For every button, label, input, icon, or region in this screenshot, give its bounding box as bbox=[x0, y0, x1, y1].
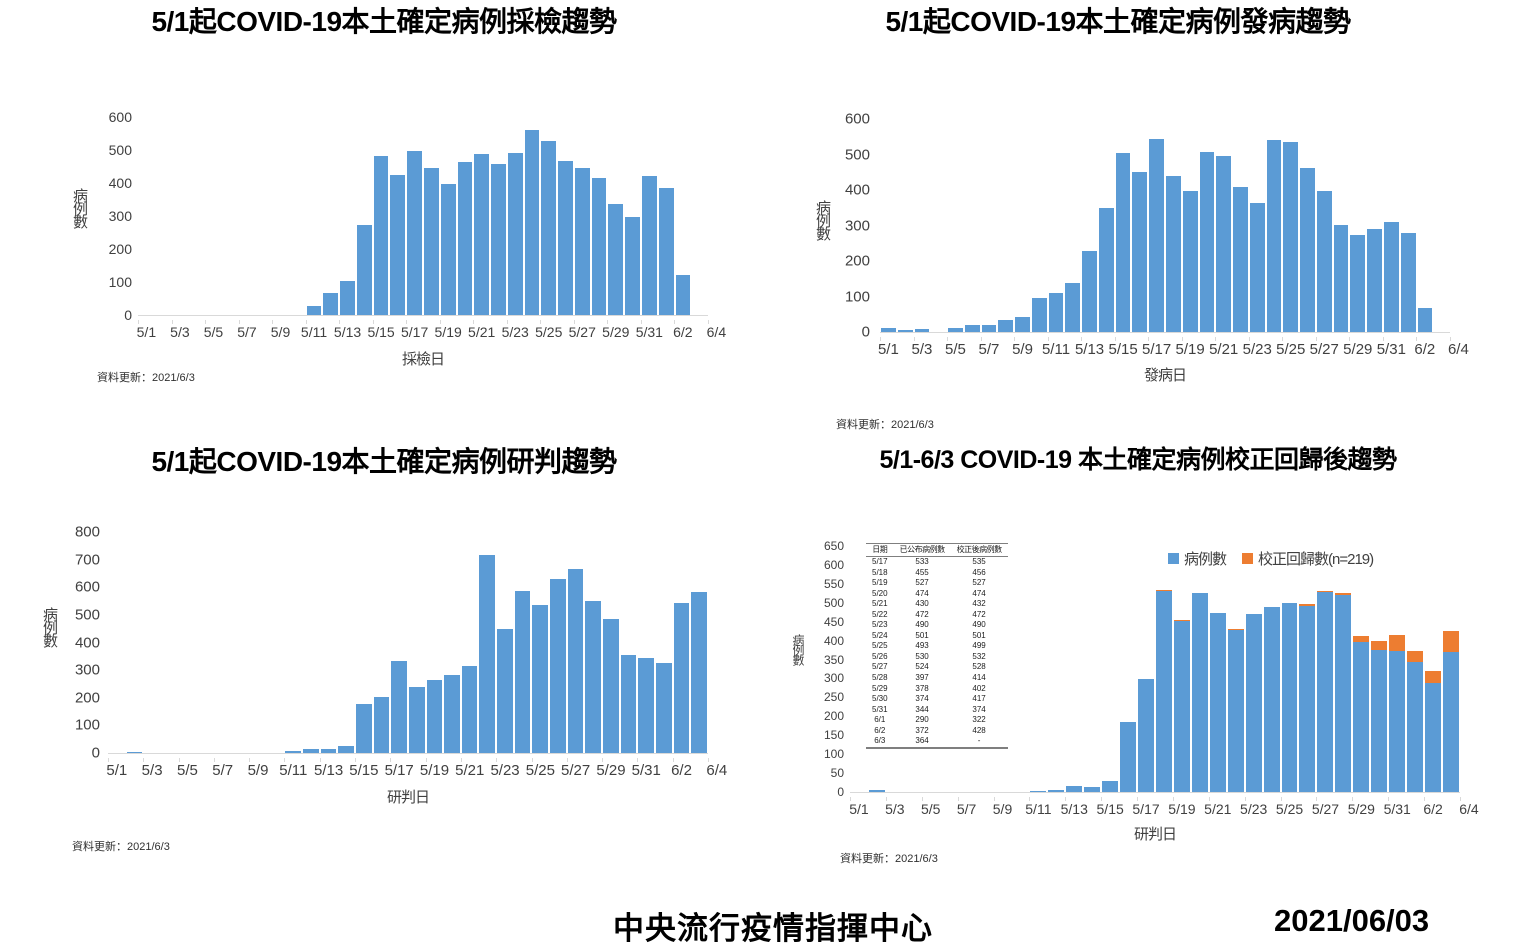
bar-group bbox=[1031, 120, 1048, 332]
x-tick-mark bbox=[958, 797, 959, 801]
x-tick-label: 6/4 bbox=[706, 762, 727, 779]
bar-group bbox=[478, 533, 496, 753]
bar-group bbox=[1352, 547, 1370, 792]
bar-group bbox=[1014, 120, 1031, 332]
x-tick-label: 5/5 bbox=[177, 762, 198, 779]
update-note-corrected: 資料更新：2021/6/3 bbox=[840, 850, 938, 866]
bar-group bbox=[1199, 120, 1216, 332]
bar-group bbox=[1417, 120, 1434, 332]
bar-group bbox=[591, 118, 608, 315]
x-tick-mark bbox=[390, 758, 391, 762]
bar-group bbox=[426, 533, 444, 753]
x-tick-label: 6/4 bbox=[707, 324, 726, 340]
x-tick-mark bbox=[1349, 337, 1350, 341]
bar-segment-cases bbox=[515, 591, 531, 753]
table-cell: 428 bbox=[951, 726, 1008, 737]
x-tick-mark bbox=[1460, 797, 1461, 801]
x-tick-mark bbox=[1173, 797, 1174, 801]
bar-segment-cases bbox=[1084, 787, 1100, 792]
x-tick-mark bbox=[1048, 337, 1049, 341]
x-tick-mark bbox=[1245, 797, 1246, 801]
bar-group bbox=[574, 118, 591, 315]
table-cell: 5/18 bbox=[866, 568, 894, 579]
x-tick-label: 5/7 bbox=[212, 762, 233, 779]
x-tick-label: 5/23 bbox=[1243, 341, 1272, 358]
bar-group bbox=[1148, 120, 1165, 332]
bar-segment-cases bbox=[508, 153, 523, 315]
y-tick-label: 600 bbox=[109, 109, 132, 125]
table-cell: 378 bbox=[894, 684, 951, 695]
x-tick-label: 5/3 bbox=[170, 324, 189, 340]
x-tick-label: 5/29 bbox=[602, 324, 629, 340]
table-cell: 322 bbox=[951, 715, 1008, 726]
table-row: 5/31344374 bbox=[866, 705, 1008, 716]
x-tick-label: 5/1 bbox=[849, 801, 868, 817]
x-tick-mark bbox=[1081, 337, 1082, 341]
bar-segment-cases bbox=[357, 225, 372, 315]
bar-group bbox=[531, 533, 549, 753]
bar-group bbox=[655, 533, 673, 753]
bar-group bbox=[880, 120, 897, 332]
bar-group bbox=[997, 120, 1014, 332]
x-tick-label: 5/15 bbox=[349, 762, 378, 779]
bar-group bbox=[1083, 547, 1101, 792]
bar-segment-cases bbox=[525, 130, 540, 316]
bar-segment-cases bbox=[1335, 595, 1351, 793]
x-tick-label: 5/7 bbox=[957, 801, 976, 817]
table-cell: 490 bbox=[894, 620, 951, 631]
y-tick-label: 500 bbox=[845, 146, 870, 163]
table-cell: 364 bbox=[894, 736, 951, 748]
bar-segment-cases bbox=[127, 752, 143, 753]
bar-group bbox=[1263, 547, 1281, 792]
y-tick-label: 600 bbox=[845, 111, 870, 128]
bar-segment-cases bbox=[1317, 191, 1332, 332]
x-tick-mark bbox=[1352, 797, 1353, 801]
x-tick-label: 5/23 bbox=[1240, 801, 1267, 817]
x-tick-label: 6/2 bbox=[671, 762, 692, 779]
xaxis-ticks-judgment: 5/15/35/55/75/95/115/135/155/175/195/215… bbox=[108, 758, 708, 780]
x-tick-label: 5/23 bbox=[490, 762, 519, 779]
bar-segment-cases bbox=[1228, 630, 1244, 792]
bar-group bbox=[126, 533, 144, 753]
table-cell: 5/23 bbox=[866, 620, 894, 631]
x-tick-mark bbox=[373, 320, 374, 324]
x-tick-label: 5/11 bbox=[1042, 341, 1070, 358]
bar-group bbox=[1281, 547, 1299, 792]
bar-segment-cases bbox=[1065, 283, 1080, 332]
bar-segment-cases bbox=[948, 328, 963, 332]
bar-group bbox=[1266, 120, 1283, 332]
x-tick-label: 5/25 bbox=[535, 324, 562, 340]
bar-group bbox=[1119, 547, 1137, 792]
bar-group bbox=[1388, 547, 1406, 792]
bar-group bbox=[457, 118, 474, 315]
y-tick-label: 600 bbox=[75, 579, 100, 596]
footer-organization: 中央流行疫情指揮中心 bbox=[613, 903, 933, 948]
bar-segment-cases bbox=[1264, 607, 1280, 792]
x-tick-label: 5/19 bbox=[420, 762, 449, 779]
bar-segment-correction bbox=[1407, 651, 1423, 662]
bar-segment-cases bbox=[497, 629, 513, 753]
bar-group bbox=[440, 118, 457, 315]
bar-segment-cases bbox=[1156, 591, 1172, 792]
bar-segment-cases bbox=[1149, 139, 1164, 332]
x-tick-label: 5/1 bbox=[106, 762, 127, 779]
table-cell: 472 bbox=[951, 610, 1008, 621]
bar-group bbox=[205, 118, 222, 315]
bar-group bbox=[1115, 120, 1132, 332]
bar-group bbox=[1433, 120, 1450, 332]
x-tick-label: 5/29 bbox=[1348, 801, 1375, 817]
x-tick-label: 5/29 bbox=[1343, 341, 1372, 358]
x-tick-label: 6/4 bbox=[1459, 801, 1478, 817]
y-tick-label: 150 bbox=[824, 728, 844, 742]
bar-group bbox=[930, 120, 947, 332]
bar-group bbox=[188, 118, 205, 315]
update-note-sampling: 資料更新：2021/6/3 bbox=[97, 369, 195, 385]
bar-group bbox=[1232, 120, 1249, 332]
bar-segment-cases bbox=[407, 151, 422, 315]
bar-segment-cases bbox=[1401, 233, 1416, 332]
x-tick-label: 5/9 bbox=[1012, 341, 1033, 358]
x-tick-mark bbox=[507, 320, 508, 324]
yaxis-ticks-sampling: 0100200300400500600 bbox=[96, 110, 132, 315]
bar-group bbox=[161, 533, 179, 753]
chart-title-corrected-trend: 5/1-6/3 COVID-19 本土確定病例校正回歸後趨勢 bbox=[768, 440, 1508, 476]
bar-segment-cases bbox=[340, 281, 355, 315]
bar-segment-cases bbox=[585, 601, 601, 753]
x-tick-label: 5/9 bbox=[993, 801, 1012, 817]
bar-segment-cases bbox=[674, 603, 690, 753]
x-tick-mark bbox=[674, 320, 675, 324]
table-row: 5/24501501 bbox=[866, 631, 1008, 642]
bar-segment-cases bbox=[1102, 781, 1118, 792]
table-row: 6/2372428 bbox=[866, 726, 1008, 737]
bar-segment-cases bbox=[638, 658, 654, 753]
x-tick-label: 5/21 bbox=[455, 762, 484, 779]
bar-group bbox=[673, 533, 691, 753]
x-tick-label: 6/2 bbox=[1414, 341, 1435, 358]
bar-segment-cases bbox=[1066, 786, 1082, 792]
bar-group bbox=[1383, 120, 1400, 332]
table-cell: 5/24 bbox=[866, 631, 894, 642]
update-note-judgment: 資料更新：2021/6/3 bbox=[72, 838, 170, 854]
bar-segment-cases bbox=[1389, 651, 1405, 792]
y-tick-label: 500 bbox=[75, 606, 100, 623]
bar-segment-cases bbox=[1299, 606, 1315, 792]
bar-group bbox=[897, 120, 914, 332]
y-tick-label: 700 bbox=[75, 551, 100, 568]
bar-group bbox=[284, 533, 302, 753]
yaxis-ticks-onset: 0100200300400500600 bbox=[828, 112, 870, 332]
table-cell: 5/26 bbox=[866, 652, 894, 663]
y-tick-label: 600 bbox=[824, 558, 844, 572]
x-tick-mark bbox=[886, 797, 887, 801]
bar-group bbox=[1047, 547, 1065, 792]
bar-group bbox=[390, 533, 408, 753]
table-cell: 414 bbox=[951, 673, 1008, 684]
x-tick-mark bbox=[473, 320, 474, 324]
table-cell: 501 bbox=[951, 631, 1008, 642]
x-tick-label: 5/9 bbox=[248, 762, 269, 779]
bar-group bbox=[1316, 547, 1334, 792]
table-row: 5/20474474 bbox=[866, 589, 1008, 600]
table-cell: 528 bbox=[951, 662, 1008, 673]
bar-group bbox=[1011, 547, 1029, 792]
bar-segment-cases bbox=[982, 325, 997, 332]
x-tick-mark bbox=[994, 797, 995, 801]
x-tick-label: 5/13 bbox=[1061, 801, 1088, 817]
bar-segment-cases bbox=[1283, 142, 1298, 332]
bar-segment-cases bbox=[603, 619, 619, 753]
table-row: 5/19527527 bbox=[866, 578, 1008, 589]
y-tick-label: 0 bbox=[92, 745, 100, 762]
table-cell: - bbox=[951, 736, 1008, 748]
bar-segment-cases bbox=[1048, 790, 1064, 792]
x-tick-mark bbox=[355, 758, 356, 762]
bar-group bbox=[1333, 120, 1350, 332]
x-tick-mark bbox=[406, 320, 407, 324]
bar-segment-cases bbox=[409, 687, 425, 753]
x-tick-mark bbox=[1316, 337, 1317, 341]
x-tick-mark bbox=[880, 337, 881, 341]
table-cell: 5/17 bbox=[866, 557, 894, 568]
x-tick-mark bbox=[440, 320, 441, 324]
table-cell: 6/2 bbox=[866, 726, 894, 737]
plot-area-judgment bbox=[108, 533, 708, 754]
bar-segment-cases bbox=[1250, 203, 1265, 332]
x-tick-label: 5/3 bbox=[911, 341, 932, 358]
plot-judgment-trend: 病例數 0100200300400500600700800 5/15/35/55… bbox=[0, 525, 768, 795]
bar-segment-cases bbox=[568, 569, 584, 753]
y-tick-label: 500 bbox=[109, 142, 132, 158]
bar-group bbox=[1245, 547, 1263, 792]
bar-segment-cases bbox=[575, 168, 590, 315]
bar-group bbox=[1191, 547, 1209, 792]
x-tick-label: 5/17 bbox=[401, 324, 428, 340]
table-cell: 402 bbox=[951, 684, 1008, 695]
x-tick-mark bbox=[1281, 797, 1282, 801]
table-cell: 533 bbox=[894, 557, 951, 568]
table-cell: 493 bbox=[894, 641, 951, 652]
bar-group bbox=[1424, 547, 1442, 792]
bar-segment-cases bbox=[621, 655, 637, 753]
footer-date: 2021/06/03 bbox=[1274, 903, 1429, 939]
table-row: 5/30374417 bbox=[866, 694, 1008, 705]
table-cell: 527 bbox=[894, 578, 951, 589]
x-tick-mark bbox=[108, 758, 109, 762]
x-tick-label: 5/31 bbox=[1384, 801, 1411, 817]
x-tick-label: 5/15 bbox=[1097, 801, 1124, 817]
update-note-onset: 資料更新：2021/6/3 bbox=[836, 416, 934, 432]
x-tick-mark bbox=[306, 320, 307, 324]
x-tick-label: 5/19 bbox=[1176, 341, 1205, 358]
bar-group bbox=[138, 118, 155, 315]
table-cell: 432 bbox=[951, 599, 1008, 610]
x-tick-label: 5/11 bbox=[301, 324, 327, 340]
bar-segment-cases bbox=[1030, 791, 1046, 792]
x-tick-mark bbox=[1383, 337, 1384, 341]
bar-segment-cases bbox=[458, 162, 473, 315]
table-cell: 524 bbox=[894, 662, 951, 673]
bar-segment-cases bbox=[321, 749, 337, 753]
table-cell: 344 bbox=[894, 705, 951, 716]
bar-segment-cases bbox=[323, 293, 338, 315]
bar-segment-cases bbox=[441, 184, 456, 315]
bar-group bbox=[355, 533, 373, 753]
y-tick-label: 400 bbox=[824, 634, 844, 648]
x-tick-mark bbox=[708, 320, 709, 324]
bar-group bbox=[1209, 547, 1227, 792]
x-tick-label: 5/25 bbox=[1276, 801, 1303, 817]
bar-group bbox=[1065, 547, 1083, 792]
bar-group bbox=[637, 533, 655, 753]
plot-area-sampling bbox=[138, 118, 708, 316]
chart-title-onset-trend: 5/1起COVID-19本土確定病例發病趨勢 bbox=[768, 0, 1468, 40]
bar-group bbox=[1370, 547, 1388, 792]
x-tick-mark bbox=[1029, 797, 1030, 801]
table-cell: 374 bbox=[894, 694, 951, 705]
bar-group bbox=[172, 118, 189, 315]
table-row: 5/22472472 bbox=[866, 610, 1008, 621]
x-tick-mark bbox=[914, 337, 915, 341]
bar-group bbox=[1366, 120, 1383, 332]
y-tick-label: 800 bbox=[75, 524, 100, 541]
x-tick-mark bbox=[567, 758, 568, 762]
x-tick-label: 5/21 bbox=[1204, 801, 1231, 817]
table-row: 5/28397414 bbox=[866, 673, 1008, 684]
bar-group bbox=[1137, 547, 1155, 792]
bar-group bbox=[507, 118, 524, 315]
x-tick-label: 5/1 bbox=[878, 341, 899, 358]
bar-segment-cases bbox=[1015, 317, 1030, 332]
bar-group bbox=[196, 533, 214, 753]
bar-group bbox=[423, 118, 440, 315]
xaxis-ticks-corrected: 5/15/35/55/75/95/115/135/155/175/195/215… bbox=[850, 797, 1460, 819]
table-cell: 417 bbox=[951, 694, 1008, 705]
bar-segment-cases bbox=[1032, 298, 1047, 332]
table-row: 5/18455456 bbox=[866, 568, 1008, 579]
x-tick-label: 5/27 bbox=[569, 324, 596, 340]
bar-group bbox=[289, 118, 306, 315]
bar-segment-cases bbox=[1246, 614, 1262, 792]
x-tick-label: 5/31 bbox=[632, 762, 661, 779]
bar-group bbox=[1081, 120, 1098, 332]
bar-segment-cases bbox=[1443, 652, 1459, 792]
x-tick-mark bbox=[143, 758, 144, 762]
bar-segment-cases bbox=[424, 168, 439, 315]
bar-group bbox=[514, 533, 532, 753]
yaxis-ticks-corrected: 050100150200250300350400450500550600650 bbox=[804, 540, 844, 792]
table-cell: 397 bbox=[894, 673, 951, 684]
x-tick-mark bbox=[179, 758, 180, 762]
x-tick-mark bbox=[138, 320, 139, 324]
bar-segment-cases bbox=[338, 746, 354, 753]
bar-segment-cases bbox=[1384, 222, 1399, 332]
x-tick-mark bbox=[1282, 337, 1283, 341]
bar-segment-cases bbox=[444, 675, 460, 753]
y-tick-label: 400 bbox=[845, 182, 870, 199]
x-tick-mark bbox=[602, 758, 603, 762]
x-tick-mark bbox=[574, 320, 575, 324]
bar-segment-cases bbox=[1192, 593, 1208, 792]
table-row: 5/21430432 bbox=[866, 599, 1008, 610]
bar-segment-cases bbox=[869, 790, 885, 792]
x-tick-label: 5/19 bbox=[435, 324, 462, 340]
bar-segment-cases bbox=[608, 204, 623, 315]
bar-group bbox=[302, 533, 320, 753]
bar-segment-cases bbox=[1418, 308, 1433, 332]
x-tick-mark bbox=[641, 320, 642, 324]
x-tick-label: 5/11 bbox=[1025, 801, 1051, 817]
bar-segment-cases bbox=[691, 592, 707, 753]
bar-group bbox=[620, 533, 638, 753]
bar-group bbox=[914, 120, 931, 332]
bar-segment-cases bbox=[881, 328, 896, 332]
x-tick-mark bbox=[1148, 337, 1149, 341]
bar-group bbox=[490, 118, 507, 315]
x-tick-mark bbox=[249, 758, 250, 762]
x-tick-mark bbox=[339, 320, 340, 324]
x-tick-label: 5/13 bbox=[314, 762, 343, 779]
y-tick-label: 300 bbox=[109, 208, 132, 224]
bar-group bbox=[496, 533, 514, 753]
bar-group bbox=[255, 118, 272, 315]
bar-segment-cases bbox=[898, 330, 913, 332]
bar-segment-cases bbox=[915, 329, 930, 332]
x-tick-mark bbox=[850, 797, 851, 801]
bar-segment-cases bbox=[390, 175, 405, 315]
y-tick-label: 0 bbox=[124, 307, 132, 323]
bar-group bbox=[1131, 120, 1148, 332]
x-tick-mark bbox=[1115, 337, 1116, 341]
x-tick-mark bbox=[922, 797, 923, 801]
table-cell: 530 bbox=[894, 652, 951, 663]
y-tick-label: 200 bbox=[75, 689, 100, 706]
bar-segment-cases bbox=[1353, 642, 1369, 792]
bar-group bbox=[408, 533, 426, 753]
bar-segment-cases bbox=[1082, 251, 1097, 332]
table-cell: 5/25 bbox=[866, 641, 894, 652]
bar-group bbox=[320, 533, 338, 753]
bar-group bbox=[981, 120, 998, 332]
x-tick-mark bbox=[172, 320, 173, 324]
xaxis-ticks-onset: 5/15/35/55/75/95/115/135/155/175/195/215… bbox=[880, 337, 1450, 359]
bar-segment-cases bbox=[1233, 187, 1248, 332]
x-tick-label: 5/5 bbox=[921, 801, 940, 817]
table-header-cell: 校正後病例數 bbox=[951, 544, 1008, 557]
bar-group bbox=[1298, 547, 1316, 792]
table-cell: 456 bbox=[951, 568, 1008, 579]
bar-segment-cases bbox=[1267, 140, 1282, 332]
x-tick-label: 5/29 bbox=[596, 762, 625, 779]
bar-segment-cases bbox=[1138, 679, 1154, 792]
bar-group bbox=[1029, 547, 1047, 792]
x-tick-mark bbox=[1137, 797, 1138, 801]
xaxis-title-corrected: 研判日 bbox=[850, 823, 1460, 844]
x-tick-mark bbox=[205, 320, 206, 324]
table-cell: 527 bbox=[951, 578, 1008, 589]
yaxis-title-corrected: 病例數 bbox=[792, 634, 804, 664]
bar-group bbox=[1048, 120, 1065, 332]
plot-sampling-trend: 病例數 0100200300400500600 5/15/35/55/75/95… bbox=[0, 110, 768, 370]
bar-group bbox=[947, 120, 964, 332]
bar-group bbox=[1316, 120, 1333, 332]
x-tick-label: 5/19 bbox=[1168, 801, 1195, 817]
bar-segment-cases bbox=[1166, 176, 1181, 332]
bar-segment-cases bbox=[965, 325, 980, 332]
